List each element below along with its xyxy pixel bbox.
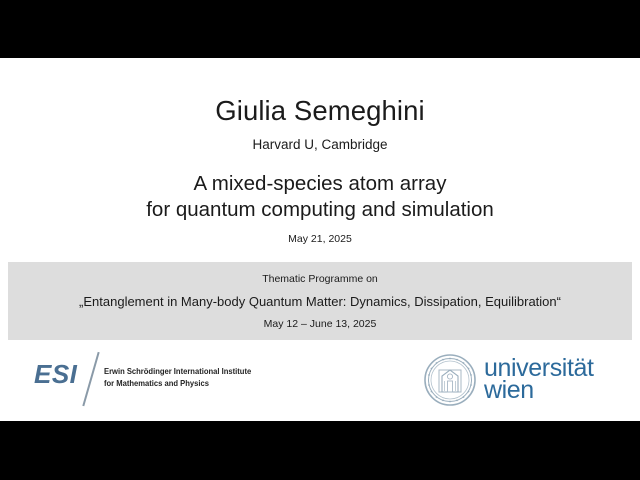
university-seal-icon [424, 354, 476, 406]
universitaet-wien-line-2: wien [484, 379, 594, 401]
talk-title: A mixed-species atom array for quantum c… [0, 171, 640, 223]
programme-banner: Thematic Programme on „Entanglement in M… [8, 262, 632, 340]
esi-divider-slash [82, 352, 99, 406]
esi-institute-name-line-2: for Mathematics and Physics [104, 378, 257, 390]
talk-title-line-1: A mixed-species atom array [0, 171, 640, 197]
talk-date: May 21, 2025 [0, 233, 640, 245]
letterbox-bar-top [0, 0, 640, 58]
esi-institute-name-line-1: Erwin Schrödinger International Institut… [104, 366, 257, 378]
esi-logo: ESI Erwin Schrödinger International Inst… [34, 353, 264, 408]
presentation-slide: Giulia Semeghini Harvard U, Cambridge A … [0, 58, 640, 421]
letterbox-bar-bottom [0, 421, 640, 480]
universitaet-wien-logo: universität wien [424, 348, 624, 406]
video-frame: Giulia Semeghini Harvard U, Cambridge A … [0, 0, 640, 480]
speaker-name: Giulia Semeghini [0, 95, 640, 127]
speaker-affiliation: Harvard U, Cambridge [0, 137, 640, 152]
programme-dates: May 12 – June 13, 2025 [8, 318, 632, 330]
esi-institute-name: Erwin Schrödinger International Institut… [104, 366, 257, 389]
universitaet-wien-wordmark: universität wien [484, 357, 594, 401]
programme-kicker: Thematic Programme on [8, 273, 632, 285]
esi-wordmark: ESI [34, 359, 77, 390]
programme-title: „Entanglement in Many-body Quantum Matte… [8, 294, 632, 309]
talk-title-line-2: for quantum computing and simulation [0, 197, 640, 223]
